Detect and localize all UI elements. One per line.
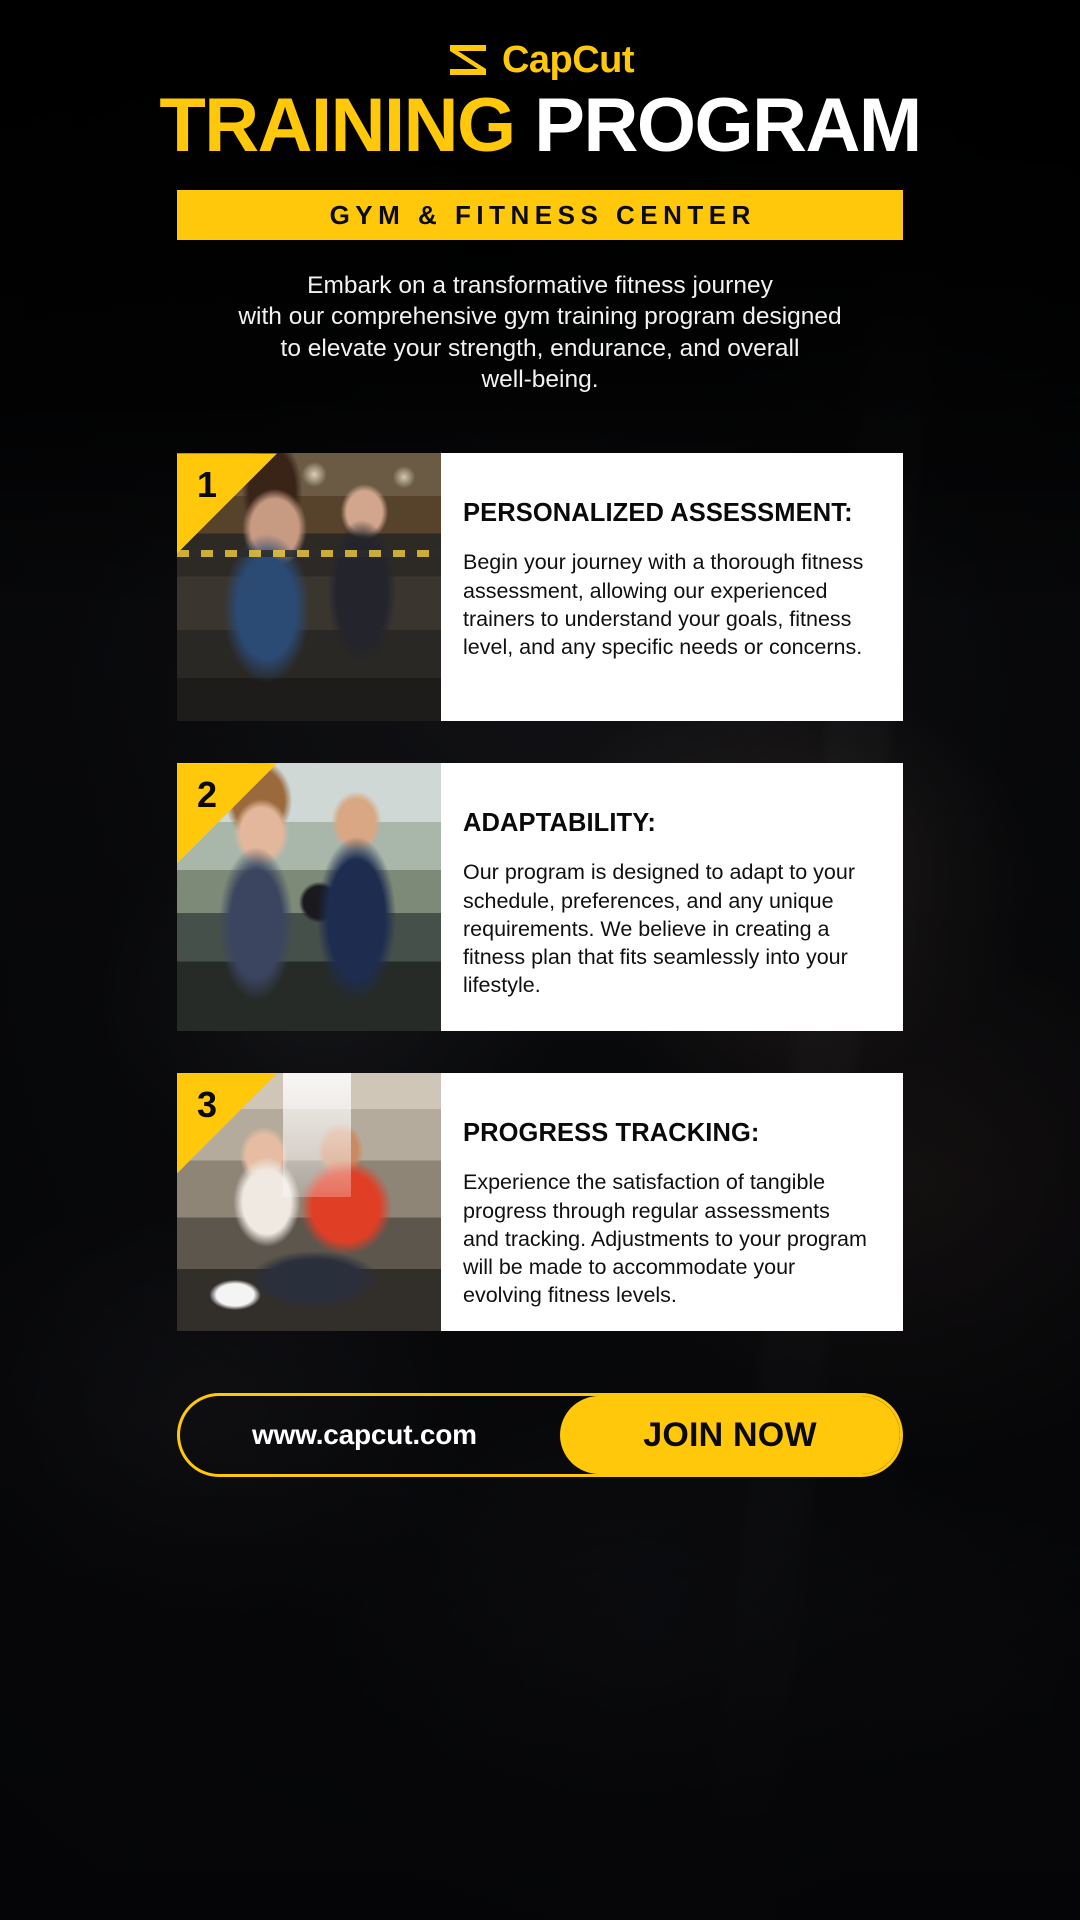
card-heading: PERSONALIZED ASSESSMENT:: [463, 499, 869, 528]
join-now-button[interactable]: JOIN NOW: [560, 1396, 900, 1474]
card-photo: [177, 453, 441, 721]
card-heading: ADAPTABILITY:: [463, 809, 869, 838]
capcut-logo-icon: [446, 42, 490, 78]
card-text: Experience the satisfaction of tangible …: [463, 1168, 869, 1309]
intro-line-3: to elevate your strength, endurance, and…: [140, 333, 940, 364]
subtitle-bar-label: GYM & FITNESS CENTER: [324, 200, 756, 231]
intro-line-1: Embark on a transformative fitness journ…: [140, 270, 940, 301]
subtitle-bar: GYM & FITNESS CENTER: [177, 190, 903, 240]
brand-logo-text: CapCut: [502, 41, 634, 79]
intro-line-4: well-being.: [140, 364, 940, 395]
card-photo: [177, 763, 441, 1031]
page-title: TRAINING PROGRAM: [0, 88, 1080, 164]
brand-logo: CapCut: [0, 0, 1080, 62]
card-body: PERSONALIZED ASSESSMENT: Begin your jour…: [441, 453, 903, 721]
feature-card: 3 PROGRESS TRACKING: Experience the sati…: [177, 1073, 903, 1331]
card-body: ADAPTABILITY: Our program is designed to…: [441, 763, 903, 1031]
feature-card: 1 PERSONALIZED ASSESSMENT: Begin your jo…: [177, 453, 903, 721]
title-highlight: TRAINING: [159, 83, 514, 168]
card-text: Begin your journey with a thorough fitne…: [463, 548, 869, 661]
title-rest: PROGRAM: [534, 83, 920, 168]
intro-paragraph: Embark on a transformative fitness journ…: [140, 270, 940, 395]
card-body: PROGRESS TRACKING: Experience the satisf…: [441, 1073, 903, 1331]
feature-card-list: 1 PERSONALIZED ASSESSMENT: Begin your jo…: [0, 453, 1080, 1331]
card-text: Our program is designed to adapt to your…: [463, 858, 869, 999]
card-heading: PROGRESS TRACKING:: [463, 1119, 869, 1148]
poster-content: CapCut TRAINING PROGRAM GYM & FITNESS CE…: [0, 0, 1080, 1477]
intro-line-2: with our comprehensive gym training prog…: [140, 301, 940, 332]
website-url[interactable]: www.capcut.com: [180, 1419, 560, 1451]
card-photo: [177, 1073, 441, 1331]
feature-card: 2 ADAPTABILITY: Our program is designed …: [177, 763, 903, 1031]
footer-cta-bar: www.capcut.com JOIN NOW: [177, 1393, 903, 1477]
